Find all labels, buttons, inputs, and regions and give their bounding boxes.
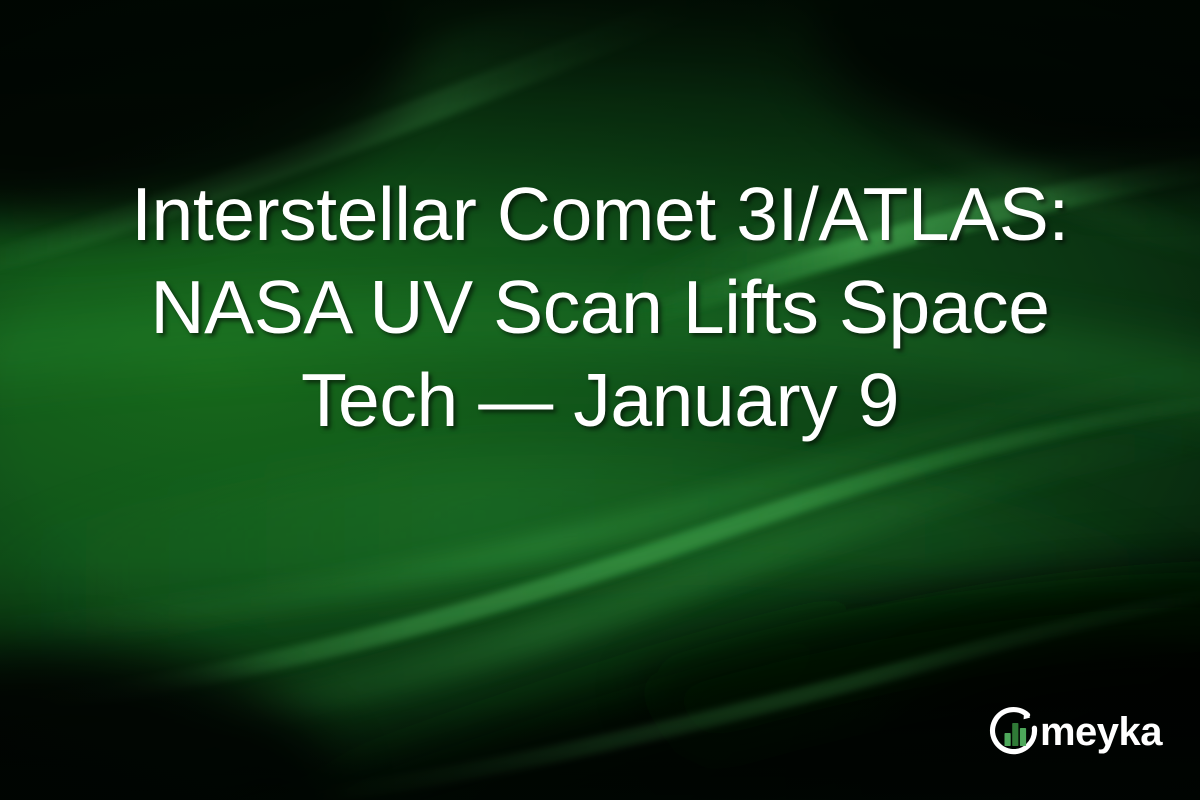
page-title: Interstellar Comet 3I/ATLAS: NASA UV Sca… xyxy=(85,168,1115,447)
brand-logo-lockup[interactable]: meyka xyxy=(989,706,1162,758)
article-hero-banner: Interstellar Comet 3I/ATLAS: NASA UV Sca… xyxy=(0,0,1200,800)
meyka-circular-arrow-bar-chart-icon xyxy=(989,706,1041,758)
title-block: Interstellar Comet 3I/ATLAS: NASA UV Sca… xyxy=(0,168,1200,447)
brand-wordmark: meyka xyxy=(1040,712,1162,752)
